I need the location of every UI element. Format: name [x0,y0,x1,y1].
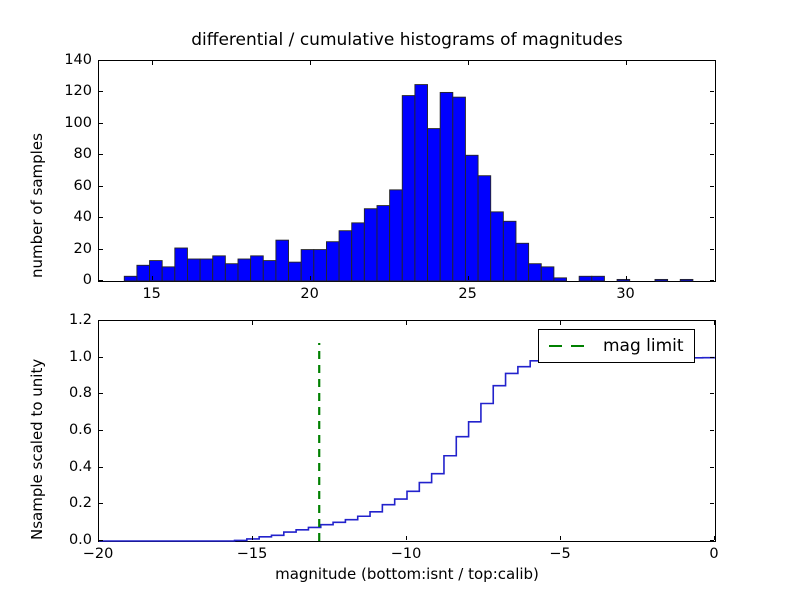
x-tick-label: 30 [616,287,634,302]
histogram-bar [339,231,352,281]
histogram-bar [238,259,251,281]
histogram-bar [465,155,478,281]
x-tick-mark [468,61,469,65]
matplotlib-figure: differential / cumulative histograms of … [0,0,800,600]
y-tick-mark [99,357,103,358]
y-tick-label: 140 [64,53,92,68]
y-tick-mark [99,154,103,155]
histogram-bar [428,129,441,281]
x-tick-mark [626,61,627,65]
histogram-bar [453,97,466,281]
legend[interactable]: mag limit [538,329,695,363]
y-tick-mark [710,393,714,394]
y-tick-mark [99,467,103,468]
y-tick-mark [710,280,714,281]
x-tick-label: 25 [458,287,476,302]
histogram-bar [541,267,554,281]
x-tick-label: 0 [709,547,718,562]
y-tick-mark [710,154,714,155]
y-tick-label: 0.0 [69,533,92,548]
y-tick-mark [99,60,103,61]
histogram-bar [529,264,542,281]
histogram-bar [390,190,403,281]
histogram-bar [289,262,302,281]
legend-label-mag-limit: mag limit [603,336,684,356]
histogram-bar [592,276,605,281]
y-tick-mark [710,60,714,61]
y-tick-label: 0.6 [69,423,92,438]
histogram-bar [415,85,428,281]
x-tick-label: −10 [391,547,422,562]
y-tick-mark [710,91,714,92]
histogram-bar [680,279,693,281]
mag-limit-dashed-line-icon [547,345,591,347]
y-tick-mark [710,540,714,541]
y-tick-mark [99,186,103,187]
histogram-bar [491,212,504,281]
y-tick-label: 20 [74,241,92,256]
histogram-bar [377,206,390,281]
y-tick-mark [710,249,714,250]
x-tick-label: −20 [83,547,114,562]
histogram-bar [440,92,453,281]
histogram-bar [175,248,188,281]
histogram-bar [187,259,200,281]
histogram-bar [200,259,213,281]
x-tick-mark [310,61,311,65]
y-tick-label: 1.2 [69,313,92,328]
histogram-bar [137,265,150,281]
histogram-bar [554,278,567,281]
y-tick-mark [710,217,714,218]
x-tick-label: 15 [142,287,160,302]
y-tick-mark [710,430,714,431]
x-tick-mark [406,536,407,540]
y-tick-mark [710,357,714,358]
histogram-bar [225,264,238,281]
y-tick-mark [99,320,103,321]
histogram-bar [364,209,377,281]
histogram-bar [503,221,516,281]
y-tick-mark [99,249,103,250]
y-tick-mark [99,430,103,431]
histogram-bar [314,250,327,281]
y-tick-label: 0.2 [69,496,92,511]
x-tick-mark [560,321,561,325]
x-tick-mark [714,321,715,325]
histogram-axes [98,60,716,282]
x-tick-mark [406,321,407,325]
histogram-bar [579,276,592,281]
x-tick-label: −15 [237,547,268,562]
histogram-bar [124,276,137,281]
histogram-bar [402,96,415,281]
histogram-plot-area [99,61,715,281]
histogram-bar [276,240,289,281]
histogram-bar [263,261,276,281]
y-tick-label: 0.8 [69,386,92,401]
y-tick-mark [99,91,103,92]
y-tick-label: 0.4 [69,459,92,474]
x-tick-mark [626,276,627,280]
x-tick-label: 20 [300,287,318,302]
x-tick-label: −5 [549,547,570,562]
y-tick-mark [710,503,714,504]
x-tick-mark [252,536,253,540]
x-tick-mark [468,276,469,280]
histogram-bar [213,256,226,281]
histogram-bar [352,223,365,281]
y-tick-label: 120 [64,84,92,99]
y-tick-mark [99,280,103,281]
y-tick-mark [99,123,103,124]
cumulative-curve [99,358,715,541]
y-tick-mark [710,123,714,124]
y-tick-label: 40 [74,210,92,225]
page-title: differential / cumulative histograms of … [98,30,716,50]
y-tick-mark [710,186,714,187]
histogram-bar [617,279,630,281]
histogram-bar [162,267,175,281]
y-axis-label-bottom: Nsample scaled to unity [28,359,46,540]
x-tick-mark [714,536,715,540]
histogram-bar [516,243,529,281]
x-tick-mark [252,321,253,325]
x-tick-mark [98,321,99,325]
y-tick-label: 0 [83,273,92,288]
y-tick-mark [710,467,714,468]
y-tick-mark [99,540,103,541]
x-tick-mark [310,276,311,280]
y-tick-label: 100 [64,116,92,131]
y-tick-label: 1.0 [69,349,92,364]
y-axis-label-top: number of samples [28,133,46,278]
y-tick-mark [710,320,714,321]
histogram-bar [326,242,339,281]
histogram-bar [478,176,491,281]
y-tick-label: 80 [74,147,92,162]
y-tick-mark [99,503,103,504]
x-tick-mark [560,536,561,540]
y-tick-mark [99,217,103,218]
histogram-bar [301,250,314,281]
x-axis-label-bottom: magnitude (bottom:isnt / top:calib) [98,565,716,583]
y-tick-label: 60 [74,178,92,193]
x-tick-mark [152,276,153,280]
y-tick-mark [99,393,103,394]
x-tick-mark [152,61,153,65]
histogram-bar [655,279,668,281]
histogram-bar [251,256,264,281]
